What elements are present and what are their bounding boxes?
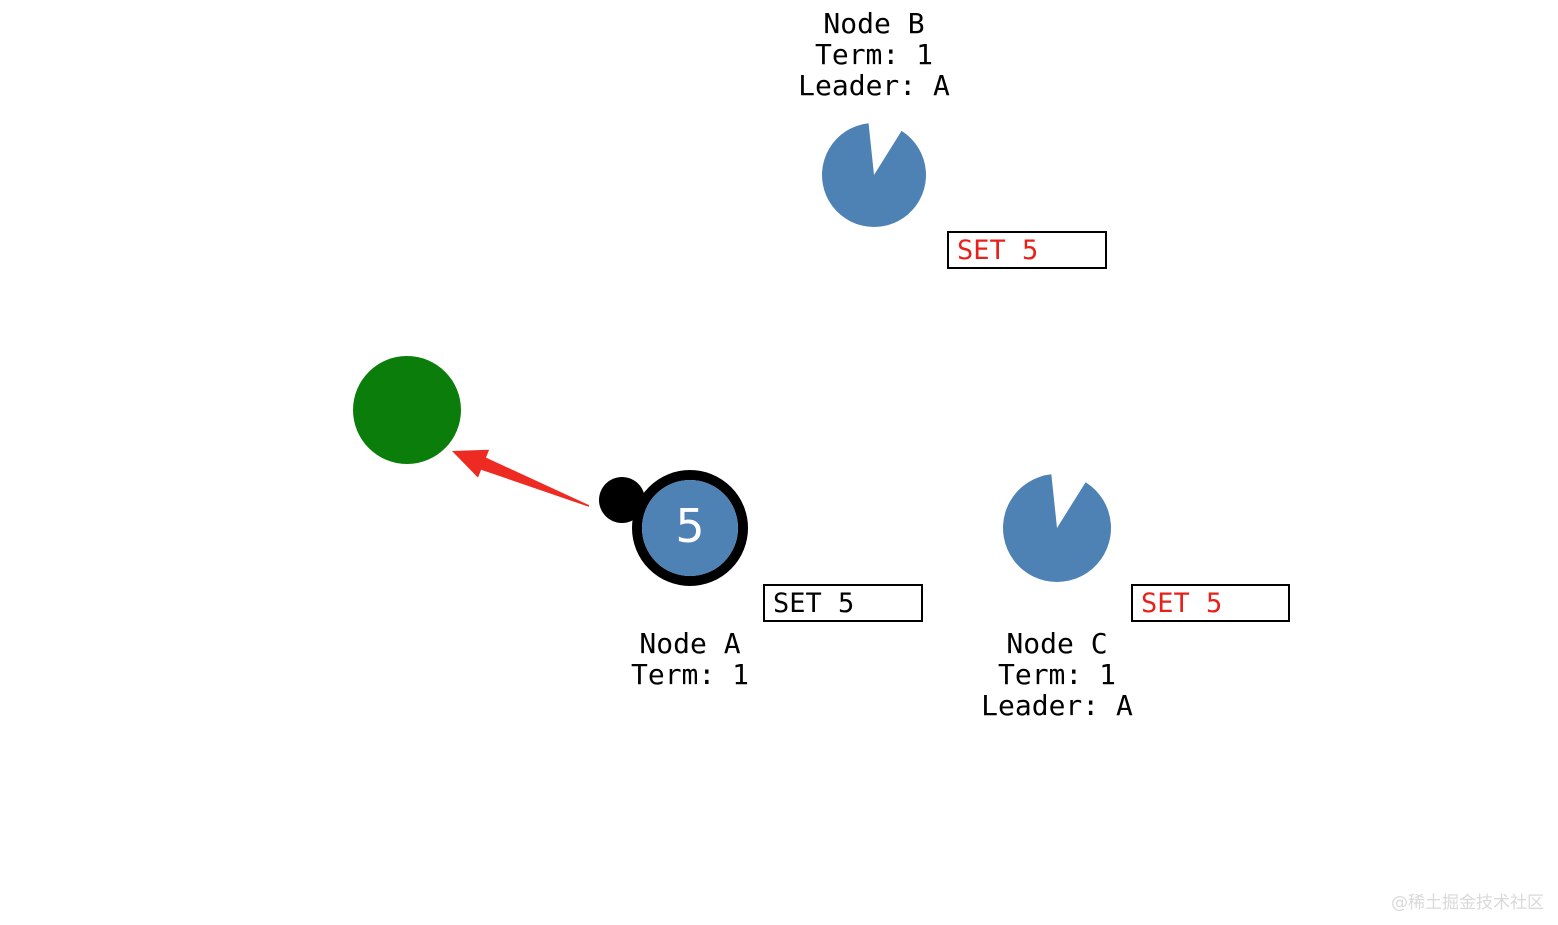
client-node[interactable] — [353, 356, 461, 464]
node-b-circle[interactable] — [822, 123, 926, 227]
raft-visualization-canvas: Node BTerm: 1Leader: A Node ATerm: 1 Nod… — [0, 0, 1558, 925]
message-box-node-a[interactable]: SET 5 — [763, 584, 923, 622]
node-c-label: Node CTerm: 1Leader: A — [943, 628, 1171, 721]
node-c-label-line-1: Term: 1 — [943, 659, 1171, 690]
node-b-label-line-2: Leader: A — [760, 70, 988, 101]
node-b-label: Node BTerm: 1Leader: A — [760, 8, 988, 101]
node-b-label-line-0: Node B — [760, 8, 988, 39]
response-arrow — [452, 450, 589, 507]
node-a-label-line-1: Term: 1 — [576, 659, 804, 690]
message-box-node-c[interactable]: SET 5 — [1131, 584, 1290, 622]
shapes-layer — [0, 0, 1558, 925]
node-a-circle[interactable] — [642, 480, 738, 576]
message-box-node-b[interactable]: SET 5 — [947, 231, 1107, 269]
node-b-label-line-1: Term: 1 — [760, 39, 988, 70]
node-c-label-line-0: Node C — [943, 628, 1171, 659]
node-c-circle[interactable] — [1003, 474, 1111, 582]
watermark: @稀土掘金技术社区 — [1391, 888, 1544, 913]
node-a-label-line-0: Node A — [576, 628, 804, 659]
node-c-label-line-2: Leader: A — [943, 690, 1171, 721]
node-a-label: Node ATerm: 1 — [576, 628, 804, 690]
